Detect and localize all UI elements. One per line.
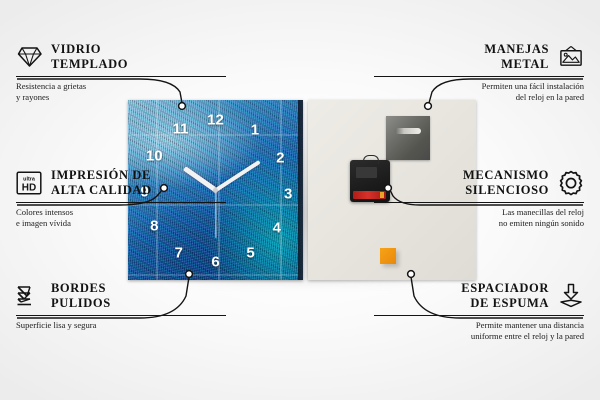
clock-numeral-2: 2 [276,150,284,165]
clock-panel-edge [298,100,303,280]
clock-numeral-1: 1 [251,122,259,137]
gear-icon [558,170,584,196]
feature-mecanismo-silencioso: MECANISMO SILENCIOSO Las manecillas del … [374,168,584,230]
feature-title: ESPACIADOR DE ESPUMA [461,281,549,311]
feature-title: IMPRESIÓN DE ALTA CALIDAD [51,168,152,198]
svg-text:HD: HD [22,182,36,193]
wall-frame-icon [558,44,584,70]
feature-divider [374,76,584,77]
clock-numeral-5: 5 [246,246,254,261]
feature-divider [16,202,226,203]
feature-divider [374,315,584,316]
feature-title: VIDRIO TEMPLADO [51,42,128,72]
feature-title: MANEJAS METAL [484,42,549,72]
feature-bordes-pulidos: BORDES PULIDOS Superficie lisa y segura [16,281,226,331]
feature-vidrio-templado: VIDRIO TEMPLADO Resistencia a grietas y … [16,42,226,104]
foam-spacer-icon [558,283,584,309]
clock-numeral-11: 11 [173,121,189,136]
feature-description: Permiten una fácil instalación del reloj… [374,81,584,104]
feature-divider [16,76,226,77]
metal-hanger [386,116,430,160]
hanger-slot [395,128,421,134]
feature-title: MECANISMO SILENCIOSO [463,168,549,198]
feature-description: Superficie lisa y segura [16,320,226,331]
feature-description: Permite mantener una distancia uniforme … [374,320,584,343]
feature-description: Las manecillas del reloj no emiten ningú… [374,207,584,230]
clock-numeral-7: 7 [175,246,183,261]
ultra-hd-icon: ultra HD [16,170,42,196]
mechanism-loop [363,155,379,164]
clock-numeral-4: 4 [273,220,281,235]
feature-title: BORDES PULIDOS [51,281,111,311]
polished-edges-icon [16,283,42,309]
feature-divider [16,315,226,316]
feature-manejas-metal: MANEJAS METAL Permiten una fácil instala… [374,42,584,104]
clock-numeral-12: 12 [207,112,224,127]
foam-spacer [380,248,396,264]
clock-numeral-6: 6 [211,255,219,270]
feature-description: Colores intensos e imagen vívida [16,207,226,230]
clock-numeral-10: 10 [146,148,163,163]
feature-divider [374,202,584,203]
clock-numeral-3: 3 [284,186,292,201]
feature-impresion-alta-calidad: ultra HD IMPRESIÓN DE ALTA CALIDAD Color… [16,168,226,230]
feature-description: Resistencia a grietas y rayones [16,81,226,104]
feature-espaciador-espuma: ESPACIADOR DE ESPUMA Permite mantener un… [374,281,584,343]
diamond-icon [16,44,42,70]
product-feature-infographic: 121234567891011 [0,0,600,400]
